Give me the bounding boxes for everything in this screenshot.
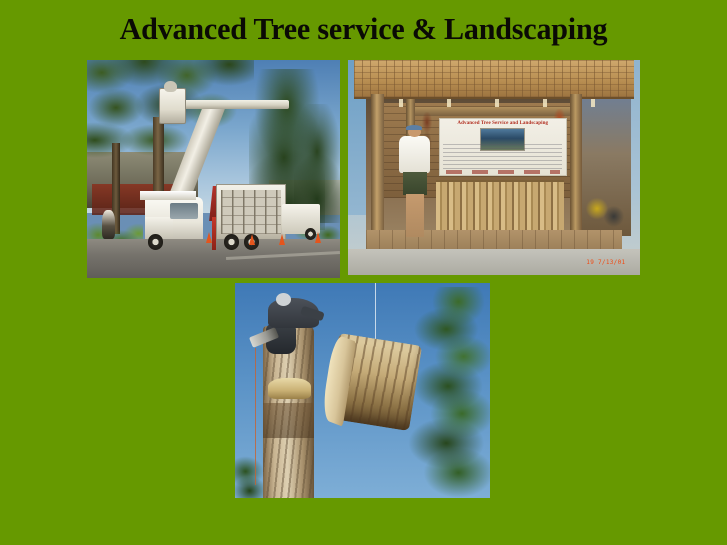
slide: Advanced Tree service & Landscaping [0, 0, 727, 545]
ground-worker [102, 210, 115, 238]
shingled-roof [354, 60, 634, 99]
worker-in-bucket [164, 81, 177, 92]
photo-scene [235, 283, 490, 498]
banner-contact-line [446, 170, 560, 174]
traffic-cone [279, 234, 285, 245]
truck-hood [145, 217, 173, 237]
traffic-cone [249, 234, 255, 245]
traffic-cone [206, 232, 212, 243]
truck-windshield [170, 203, 198, 219]
photo-scene: Advanced Tree Service and Landscaping 19… [348, 60, 640, 275]
man-shorts [403, 172, 426, 196]
tree-climber-log-removal-photo[interactable] [235, 283, 490, 498]
log-railing-display [436, 180, 564, 233]
pine-tree-right [408, 287, 490, 498]
booth-floor [366, 230, 623, 252]
fresh-cut-wood [268, 378, 311, 400]
banner-body-text [443, 141, 562, 169]
truck-rail [140, 191, 196, 200]
boom-upper-section [178, 100, 289, 109]
banner-title-text: Advanced Tree Service and Landscaping [457, 121, 548, 127]
climbing-rope [255, 348, 256, 486]
chainsaw-display [585, 193, 626, 232]
climber-helmet [276, 293, 291, 306]
traffic-cone [315, 232, 321, 243]
man-shirt [399, 136, 430, 173]
lift-bucket [159, 88, 186, 124]
truck-wheel [148, 234, 163, 249]
man-legs [406, 194, 424, 237]
photo-scene [87, 60, 340, 278]
bucket-truck-tree-trimming-photo[interactable] [87, 60, 340, 278]
trade-show-booth-photo[interactable]: Advanced Tree Service and Landscaping 19… [348, 60, 640, 275]
page-title: Advanced Tree service & Landscaping [11, 10, 716, 48]
camera-timestamp: 19 7/13/01 [586, 259, 625, 266]
crane-cable [375, 283, 376, 341]
man-cap [406, 125, 422, 131]
pine-tree-left [235, 451, 266, 498]
log-post-right [570, 94, 582, 245]
outrigger-leg [212, 217, 216, 250]
trunk-shadow [263, 403, 314, 437]
log-post-left [371, 94, 384, 245]
company-banner: Advanced Tree Service and Landscaping [439, 118, 567, 176]
truck-wheel [224, 234, 239, 249]
